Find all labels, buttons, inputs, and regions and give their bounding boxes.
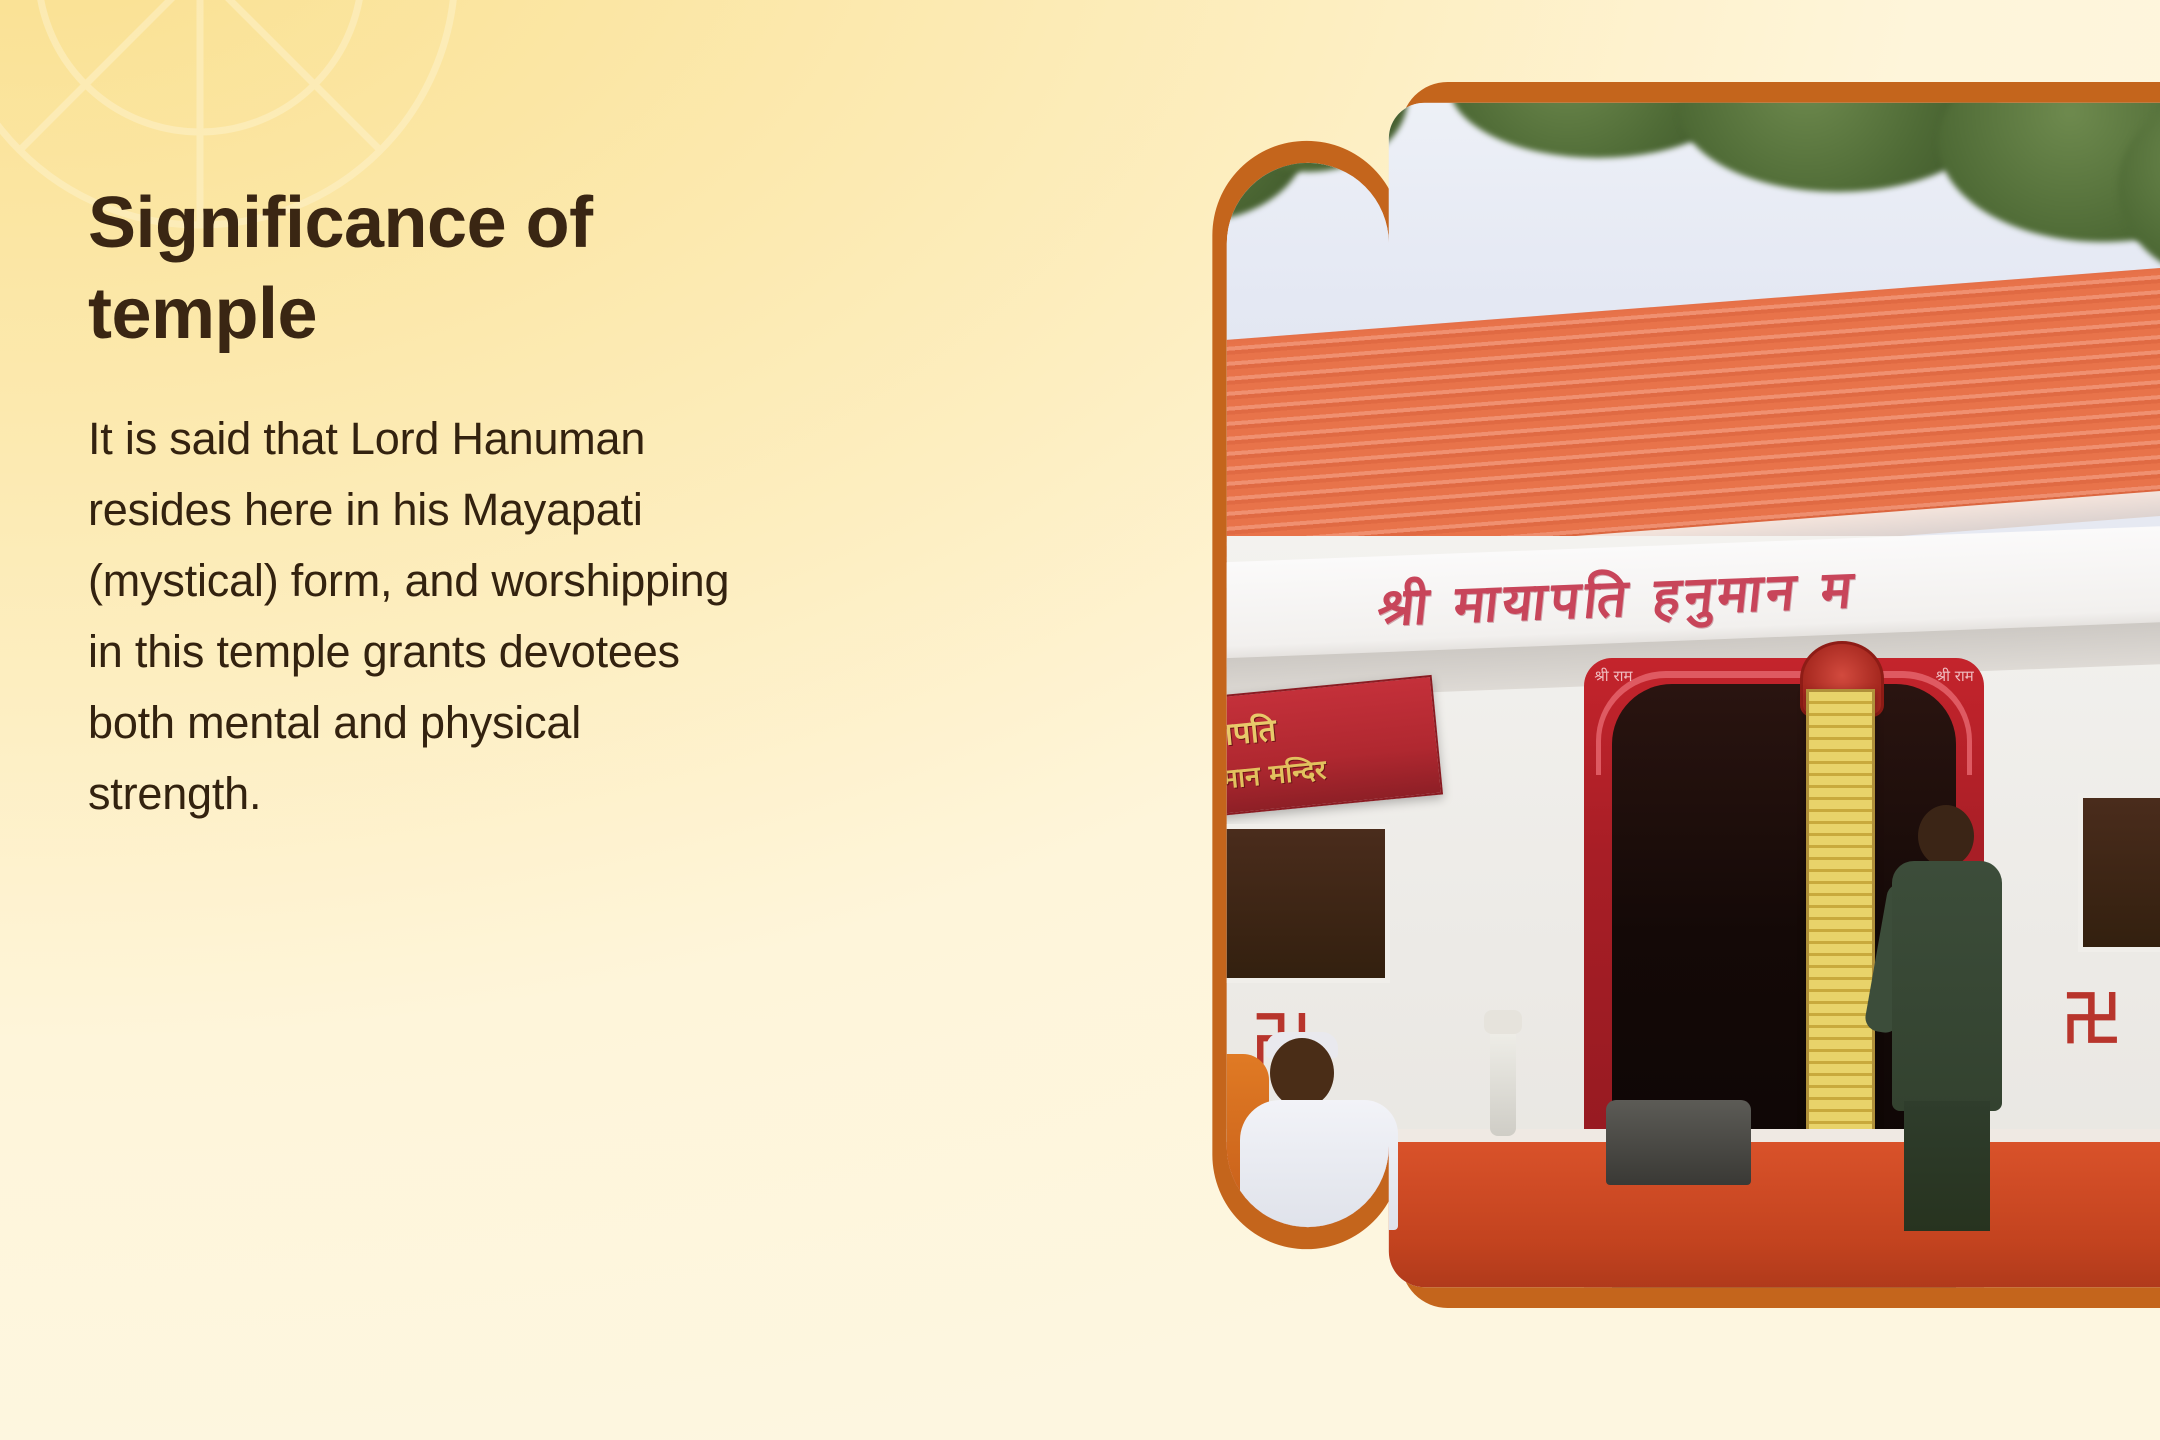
yellow-notice-board	[1806, 689, 1875, 1167]
torso	[1892, 861, 2002, 1111]
temple-name-text: श्री मायापति हनुमान म	[1374, 552, 1860, 642]
door-corner-text-right: श्री राम	[1936, 666, 1974, 686]
head	[1270, 1038, 1334, 1108]
standing-devotee	[1884, 805, 2014, 1225]
photo-clip-region: श्री मायापति हनुमान म श्री मायापति हनुमा…	[1118, 82, 2160, 1308]
head	[1918, 805, 1974, 867]
temple-window-left	[1201, 824, 1390, 983]
legs	[1904, 1101, 1990, 1231]
body-paragraph: It is said that Lord Hanuman resides her…	[88, 403, 748, 830]
temple-window-right	[2078, 793, 2160, 952]
side-banner-line2: हनुमान मन्दिर	[1191, 749, 1328, 799]
temple-photo-frame: श्री मायापति हनुमान म श्री मायापति हनुमा…	[1118, 82, 2160, 1308]
door-corner-text-left: श्री राम	[1594, 666, 1632, 686]
temple-photo: श्री मायापति हनुमान म श्री मायापति हनुमा…	[1118, 82, 2160, 1308]
swastika-icon-right: 卍	[2062, 971, 2124, 1058]
side-banner-line1: मायापति	[1178, 708, 1277, 759]
pillar	[1490, 1026, 1516, 1136]
shri-prefix-text: श्री	[1144, 727, 1190, 788]
page-title: Significance of temple	[88, 178, 748, 361]
text-column: Significance of temple It is said that L…	[88, 178, 748, 829]
offering-pots	[1606, 1100, 1750, 1186]
